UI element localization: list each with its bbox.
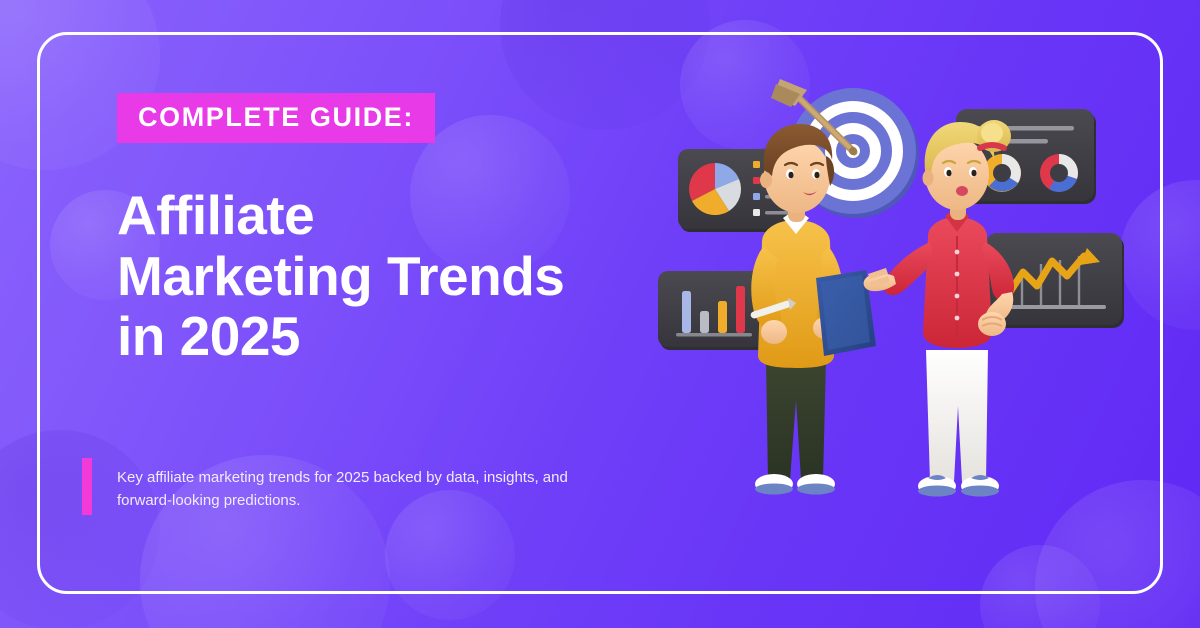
affiliate-marketing-banner: COMPLETE GUIDE: Affiliate Marketing Tren… [0, 0, 1200, 628]
affiliate-marketing-3d-illustration [640, 60, 1160, 540]
donut-chart-icon [1040, 154, 1078, 192]
banner-text-content: COMPLETE GUIDE: Affiliate Marketing Tren… [117, 93, 677, 367]
banner-subtitle: Key affiliate marketing trends for 2025 … [117, 458, 568, 513]
pie-chart-icon [689, 163, 741, 215]
page-title: Affiliate Marketing Trends in 2025 [117, 185, 677, 367]
bubble-decoration [980, 545, 1100, 628]
accent-bar [82, 458, 92, 515]
banner-subtitle-block: Key affiliate marketing trends for 2025 … [82, 458, 568, 515]
complete-guide-badge: COMPLETE GUIDE: [117, 93, 435, 143]
